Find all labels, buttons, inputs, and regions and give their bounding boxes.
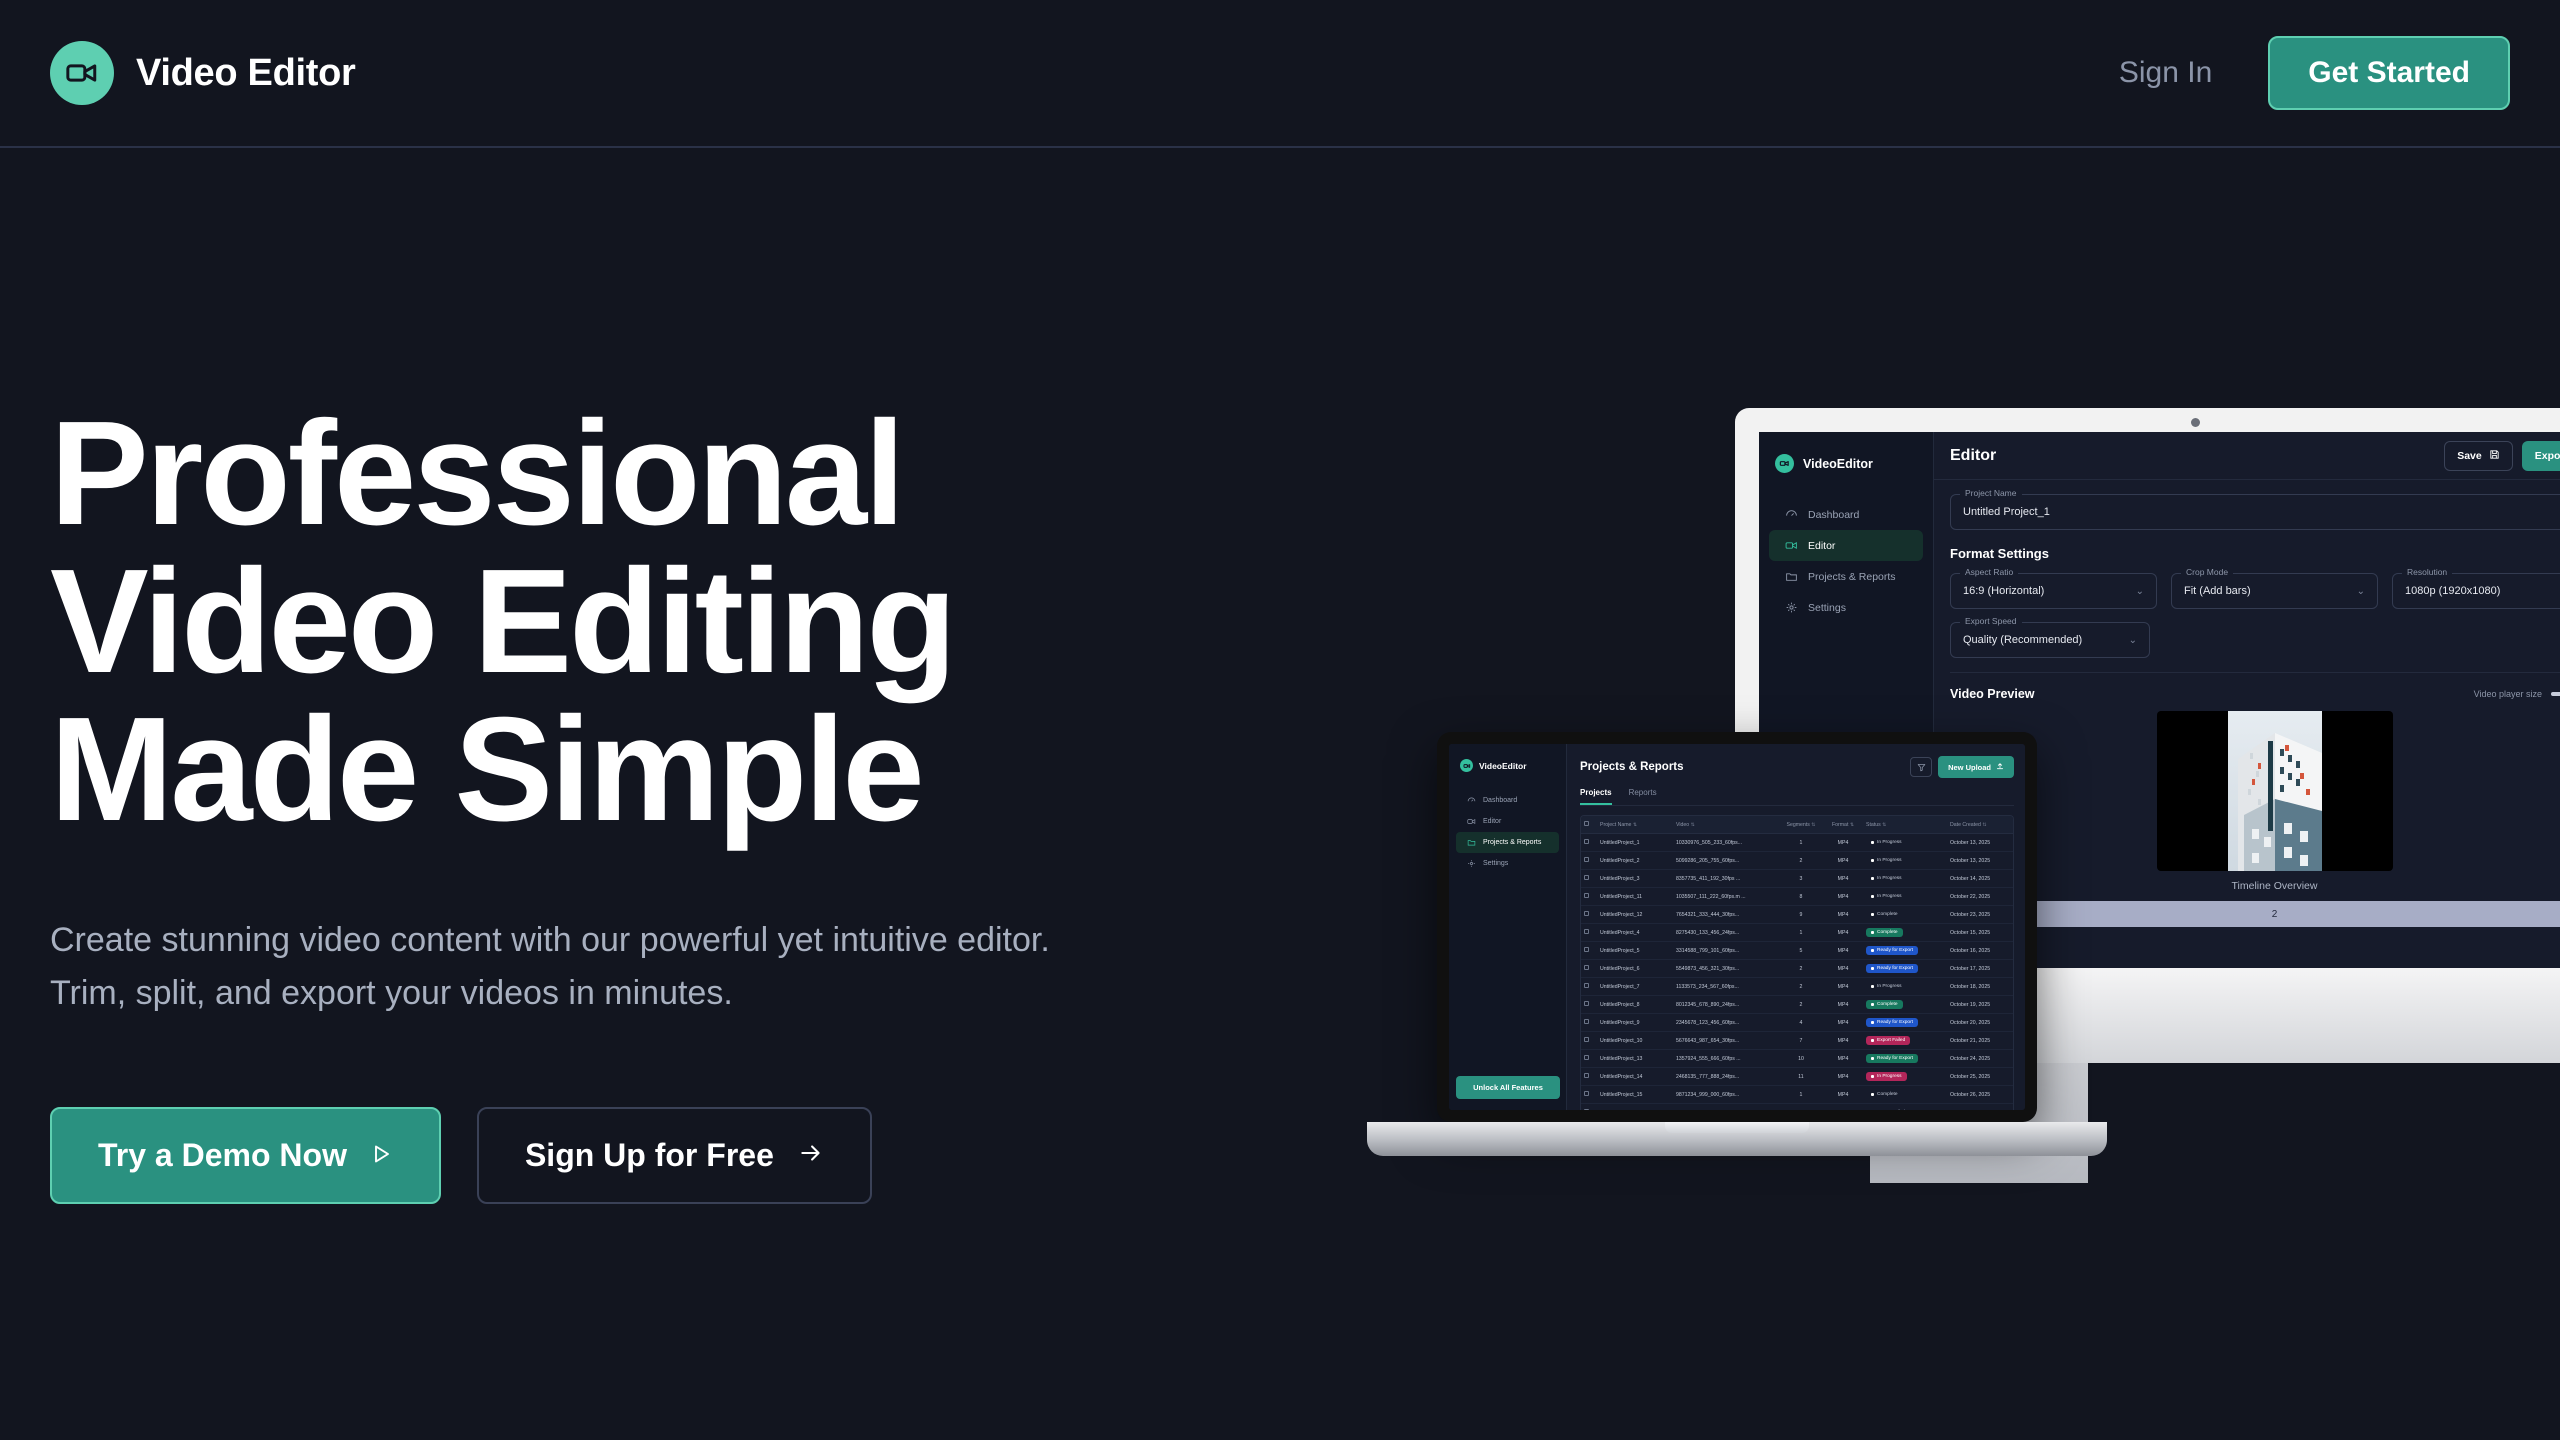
cell-video: 5099286_205_755_60fps...	[1673, 852, 1779, 870]
cell-format: MP4	[1823, 1086, 1863, 1104]
status-badge: In Progress	[1866, 1072, 1907, 1081]
sidebar-item-label: Editor	[1483, 818, 1501, 825]
hero-cta-row: Try a Demo Now Sign Up for Free	[50, 1107, 1100, 1204]
status-dot-icon	[1871, 949, 1874, 952]
status-badge: Complete	[1866, 1090, 1903, 1099]
hero-subhead: Create stunning video content with our p…	[50, 914, 1100, 1019]
sort-icon: ⇅	[1691, 822, 1695, 828]
resolution-label: Resolution	[2402, 567, 2452, 577]
status-badge: Complete	[1866, 910, 1903, 919]
row-checkbox[interactable]	[1581, 924, 1597, 942]
cell-format: MP4	[1823, 1014, 1863, 1032]
cell-status: Export Failed	[1863, 1032, 1947, 1050]
sidebar-item-label: Settings	[1808, 602, 1846, 614]
table-row[interactable]: UntitledProject_111035507_111_222_60fps.…	[1581, 888, 2014, 906]
video-preview-title: Video Preview	[1950, 687, 2035, 701]
video-preview-header: Video Preview Video player size	[1950, 687, 2560, 701]
export-speed-value: Quality (Recommended)	[1963, 634, 2082, 646]
cell-video: 2468135_777_888_24fps...	[1673, 1068, 1779, 1086]
laptop-screen: VideoEditor Dashboard Editor Projects & …	[1449, 744, 2025, 1110]
table-row[interactable]: UntitledProject_38357735_411_192_30fps .…	[1581, 870, 2014, 888]
laptop-mockup: VideoEditor Dashboard Editor Projects & …	[1437, 732, 2037, 1122]
cell-video: 3314588_799_101_60fps...	[1673, 942, 1779, 960]
gauge-icon	[1785, 508, 1798, 521]
cell-date-created: October 16, 2025	[1947, 942, 2014, 960]
cell-project-name: UntitledProject_4	[1597, 924, 1673, 942]
page-title: Professional Video Editing Made Simple	[50, 400, 1100, 844]
cell-format: MP4	[1823, 852, 1863, 870]
chevron-down-icon: ⌄	[2357, 586, 2365, 597]
player-size-label: Video player size	[2474, 689, 2542, 699]
status-dot-icon	[1871, 895, 1874, 898]
sidebar-item-settings[interactable]: Settings	[1769, 592, 1923, 623]
cell-date-created: October 19, 2025	[1947, 996, 2014, 1014]
filter-icon[interactable]	[1910, 757, 1932, 777]
checkbox-icon[interactable]	[1584, 1073, 1589, 1078]
status-dot-icon	[1871, 967, 1874, 970]
row-checkbox[interactable]	[1581, 834, 1597, 852]
cell-video: 7654321_333_444_30fps...	[1673, 906, 1779, 924]
video-camera-icon	[1785, 539, 1798, 552]
cell-project-name: UntitledProject_13	[1597, 1050, 1673, 1068]
column-segments[interactable]: Segments ⇅	[1779, 816, 1823, 834]
cell-date-created: October 15, 2025	[1947, 924, 2014, 942]
projects-sidebar-brand-label: VideoEditor	[1479, 761, 1527, 771]
folder-icon	[1785, 570, 1798, 583]
sidebar-item-label: Settings	[1483, 860, 1508, 867]
cell-segments: 1	[1779, 834, 1823, 852]
header-nav: Sign In Get Started	[2119, 36, 2510, 110]
table-row[interactable]: UntitledProject_110330976_505_233_60fps.…	[1581, 834, 2014, 852]
save-label: Save	[2457, 450, 2482, 462]
project-name-field[interactable]: Project Name Untitled Project_1	[1950, 494, 2560, 530]
gear-icon	[1467, 859, 1476, 868]
editor-sidebar-brand-label: VideoEditor	[1803, 457, 1873, 471]
table-row[interactable]: UntitledProject_161239876_123_456_30fps.…	[1581, 1104, 2014, 1111]
unlock-all-features-button[interactable]: Unlock All Features	[1456, 1076, 1560, 1099]
aspect-ratio-label: Aspect Ratio	[1960, 567, 2018, 577]
checkbox-icon[interactable]	[1584, 821, 1589, 826]
project-name-label: Project Name	[1960, 488, 2022, 498]
column-select-all[interactable]	[1581, 816, 1597, 834]
projects-table-wrap: Project Name ⇅ Video ⇅ Segments ⇅ Format…	[1580, 815, 2014, 1110]
headline-line-2: Video Editing	[50, 548, 1100, 696]
export-label: Export	[2535, 450, 2560, 462]
cell-segments: 2	[1779, 960, 1823, 978]
new-upload-label: New Upload	[1948, 763, 1991, 772]
video-camera-icon	[1460, 759, 1473, 772]
cell-date-created: October 14, 2025	[1947, 870, 2014, 888]
brand-logo-group[interactable]: Video Editor	[50, 41, 356, 105]
table-row[interactable]: UntitledProject_105676643_987_654_30fps.…	[1581, 1032, 2014, 1050]
checkbox-icon[interactable]	[1584, 929, 1589, 934]
cell-status: In Progress	[1863, 978, 1947, 996]
row-checkbox[interactable]	[1581, 906, 1597, 924]
checkbox-icon[interactable]	[1584, 875, 1589, 880]
status-dot-icon	[1871, 931, 1874, 934]
crop-mode-value: Fit (Add bars)	[2184, 585, 2251, 597]
projects-sidebar-brand: VideoEditor	[1449, 759, 1566, 772]
cell-video: 5549873_456_321_30fps...	[1673, 960, 1779, 978]
cell-project-name: UntitledProject_1	[1597, 834, 1673, 852]
table-row[interactable]: UntitledProject_48275430_133_456_24fps..…	[1581, 924, 2014, 942]
cell-status: Complete	[1863, 906, 1947, 924]
timeline-bar[interactable]: 2	[1950, 901, 2560, 927]
cell-format: MP4	[1823, 1032, 1863, 1050]
table-row[interactable]: UntitledProject_25099286_205_755_60fps..…	[1581, 852, 2014, 870]
cell-segments: 10	[1779, 1050, 1823, 1068]
cell-project-name: UntitledProject_2	[1597, 852, 1673, 870]
cell-segments: 7	[1779, 1032, 1823, 1050]
column-date-created[interactable]: Date Created ⇅	[1947, 816, 2014, 834]
headline-line-3: Made Simple	[50, 696, 1100, 844]
row-checkbox[interactable]	[1581, 1014, 1597, 1032]
cell-project-name: UntitledProject_8	[1597, 996, 1673, 1014]
cell-project-name: UntitledProject_5	[1597, 942, 1673, 960]
sort-icon: ⇅	[1811, 822, 1815, 828]
cell-video: 2345678_123_456_60fps...	[1673, 1014, 1779, 1032]
sidebar-item-label: Dashboard	[1808, 509, 1859, 521]
status-badge: Ready for Export	[1866, 1054, 1918, 1063]
chevron-down-icon: ⌄	[2136, 586, 2144, 597]
checkbox-icon[interactable]	[1584, 947, 1589, 952]
column-format[interactable]: Format ⇅	[1823, 816, 1863, 834]
sign-up-label: Sign Up for Free	[525, 1137, 774, 1174]
status-dot-icon	[1871, 1075, 1874, 1078]
row-checkbox[interactable]	[1581, 1086, 1597, 1104]
sidebar-item-editor[interactable]: Editor	[1456, 811, 1559, 832]
status-badge: In Progress	[1866, 982, 1907, 991]
status-badge: Complete	[1866, 928, 1903, 937]
sort-icon: ⇅	[1982, 822, 1986, 828]
row-checkbox[interactable]	[1581, 960, 1597, 978]
sort-icon: ⇅	[1633, 822, 1637, 828]
column-status[interactable]: Status ⇅	[1863, 816, 1947, 834]
sort-icon: ⇅	[1882, 822, 1886, 828]
editor-page-title: Editor	[1950, 447, 1996, 465]
cell-format: MP4	[1823, 1104, 1863, 1111]
export-speed-select[interactable]: Export Speed Quality (Recommended) ⌄	[1950, 622, 2150, 658]
format-field-row-2: Export Speed Quality (Recommended) ⌄	[1950, 622, 2560, 658]
cell-date-created: October 20, 2025	[1947, 1014, 2014, 1032]
status-badge: In Progress	[1866, 838, 1907, 847]
cell-format: MP4	[1823, 870, 1863, 888]
projects-page-title: Projects & Reports	[1580, 761, 1684, 773]
cell-segments: 9	[1779, 906, 1823, 924]
projects-sidebar: VideoEditor Dashboard Editor Projects & …	[1449, 744, 1567, 1110]
cell-segments: 11	[1779, 1068, 1823, 1086]
cell-project-name: UntitledProject_6	[1597, 960, 1673, 978]
status-badge: Ready for Export	[1866, 964, 1918, 973]
cell-segments: 3	[1779, 870, 1823, 888]
status-dot-icon	[1871, 913, 1874, 916]
checkbox-icon[interactable]	[1584, 1019, 1589, 1024]
cell-status: In Progress	[1863, 888, 1947, 906]
editor-sidebar-brand: VideoEditor	[1759, 454, 1933, 473]
cell-status: Ready for Export	[1863, 1014, 1947, 1032]
folder-icon	[1467, 838, 1476, 847]
sidebar-item-dashboard[interactable]: Dashboard	[1456, 790, 1559, 811]
row-checkbox[interactable]	[1581, 1104, 1597, 1111]
cell-status: Ready for Export	[1863, 960, 1947, 978]
hero-section: Professional Video Editing Made Simple C…	[50, 400, 1100, 1204]
checkbox-icon[interactable]	[1584, 839, 1589, 844]
cell-date-created: October 23, 2025	[1947, 906, 2014, 924]
sidebar-item-settings[interactable]: Settings	[1456, 853, 1559, 874]
aspect-ratio-select[interactable]: Aspect Ratio 16:9 (Horizontal) ⌄	[1950, 573, 2157, 609]
projects-header-actions: New Upload	[1910, 756, 2014, 778]
status-badge: Complete	[1866, 1000, 1903, 1009]
table-row[interactable]: UntitledProject_127654321_333_444_30fps.…	[1581, 906, 2014, 924]
cell-project-name: UntitledProject_10	[1597, 1032, 1673, 1050]
tab-reports[interactable]: Reports	[1629, 788, 1657, 805]
cell-video: 1239876_123_456_30fps...	[1673, 1104, 1779, 1111]
new-upload-button[interactable]: New Upload	[1938, 756, 2014, 778]
status-badge: Export Failed	[1866, 1036, 1910, 1045]
cell-project-name: UntitledProject_3	[1597, 870, 1673, 888]
projects-main: Projects & Reports New Upload Projects R…	[1567, 744, 2025, 1110]
cell-status: Complete	[1863, 1086, 1947, 1104]
sort-icon: ⇅	[1850, 822, 1854, 828]
cell-segments: 5	[1779, 942, 1823, 960]
headline-line-1: Professional	[50, 400, 1100, 548]
status-badge: Ready for Export	[1866, 1018, 1918, 1027]
player-size-control[interactable]: Video player size	[2474, 689, 2560, 699]
cell-status: In Progress	[1863, 834, 1947, 852]
column-project-name[interactable]: Project Name ⇅	[1597, 816, 1673, 834]
format-field-row-1: Aspect Ratio 16:9 (Horizontal) ⌄ Crop Mo…	[1950, 573, 2560, 609]
project-name-value: Untitled Project_1	[1963, 506, 2050, 518]
sidebar-item-label: Editor	[1808, 540, 1835, 552]
cell-segments: 2	[1779, 978, 1823, 996]
checkbox-icon[interactable]	[1584, 1055, 1589, 1060]
checkbox-icon[interactable]	[1584, 1001, 1589, 1006]
checkbox-icon[interactable]	[1584, 983, 1589, 988]
cell-video: 5676643_987_654_30fps...	[1673, 1032, 1779, 1050]
cell-date-created: October 13, 2025	[1947, 852, 2014, 870]
cell-status: Ready for Export	[1863, 1050, 1947, 1068]
play-triangle-icon	[369, 1137, 393, 1174]
cell-project-name: UntitledProject_15	[1597, 1086, 1673, 1104]
cell-status: In Progress	[1863, 852, 1947, 870]
row-checkbox[interactable]	[1581, 1032, 1597, 1050]
laptop-notch	[1665, 1122, 1809, 1133]
try-demo-label: Try a Demo Now	[98, 1137, 347, 1174]
cell-segments: 8	[1779, 888, 1823, 906]
floppy-disk-icon	[2489, 449, 2500, 463]
cell-date-created: October 17, 2025	[1947, 960, 2014, 978]
cell-segments: 2	[1779, 852, 1823, 870]
table-row[interactable]: UntitledProject_159871234_999_000_60fps.…	[1581, 1086, 2014, 1104]
cell-status: In Progress	[1863, 870, 1947, 888]
export-button[interactable]: Export	[2522, 441, 2560, 471]
resolution-value: 1080p (1920x1080)	[2405, 585, 2500, 597]
status-dot-icon	[1871, 985, 1874, 988]
cell-date-created: October 13, 2025	[1947, 834, 2014, 852]
cell-video: 9871234_999_000_60fps...	[1673, 1086, 1779, 1104]
gauge-icon	[1467, 796, 1476, 805]
projects-tabs: Projects Reports	[1580, 788, 2014, 806]
cell-format: MP4	[1823, 942, 1863, 960]
cell-format: MP4	[1823, 996, 1863, 1014]
cell-format: MP4	[1823, 978, 1863, 996]
cell-segments: 1	[1779, 924, 1823, 942]
tab-projects[interactable]: Projects	[1580, 788, 1612, 805]
save-button[interactable]: Save	[2444, 441, 2513, 471]
upload-icon	[1996, 762, 2004, 772]
chevron-down-icon: ⌄	[2129, 635, 2137, 646]
sign-up-button[interactable]: Sign Up for Free	[477, 1107, 872, 1204]
cell-video: 8012345_678_890_24fps...	[1673, 996, 1779, 1014]
sidebar-item-projects-reports[interactable]: Projects & Reports	[1769, 561, 1923, 592]
status-badge: In Progress	[1866, 892, 1907, 901]
cell-video: 8357735_411_192_30fps ...	[1673, 870, 1779, 888]
resolution-select[interactable]: Resolution 1080p (1920x1080) ⌄	[2392, 573, 2560, 609]
sign-in-link[interactable]: Sign In	[2119, 56, 2212, 90]
cell-segments: 2	[1779, 996, 1823, 1014]
cell-format: MP4	[1823, 1050, 1863, 1068]
cell-format: MP4	[1823, 888, 1863, 906]
get-started-button[interactable]: Get Started	[2268, 36, 2510, 110]
row-checkbox[interactable]	[1581, 978, 1597, 996]
crop-mode-label: Crop Mode	[2181, 567, 2233, 577]
column-video[interactable]: Video ⇅	[1673, 816, 1779, 834]
arrow-right-icon	[798, 1137, 824, 1174]
cell-project-name: UntitledProject_12	[1597, 906, 1673, 924]
checkbox-icon[interactable]	[1584, 1037, 1589, 1042]
checkbox-icon[interactable]	[1584, 1109, 1589, 1110]
checkbox-icon[interactable]	[1584, 911, 1589, 916]
video-camera-icon	[1467, 817, 1476, 826]
cell-date-created: October 27, 2025	[1947, 1104, 2014, 1111]
player-size-slider[interactable]	[2551, 692, 2560, 696]
status-dot-icon	[1871, 1057, 1874, 1060]
cell-date-created: October 21, 2025	[1947, 1032, 2014, 1050]
cell-format: MP4	[1823, 960, 1863, 978]
table-header-row: Project Name ⇅ Video ⇅ Segments ⇅ Format…	[1581, 816, 2014, 834]
cell-project-name: UntitledProject_11	[1597, 888, 1673, 906]
cell-project-name: UntitledProject_14	[1597, 1068, 1673, 1086]
cell-status: Complete	[1863, 924, 1947, 942]
cell-format: MP4	[1823, 906, 1863, 924]
cell-segments: 13	[1779, 1104, 1823, 1111]
cell-date-created: October 26, 2025	[1947, 1086, 2014, 1104]
status-dot-icon	[1871, 1093, 1874, 1096]
row-checkbox[interactable]	[1581, 1050, 1597, 1068]
video-player[interactable]	[2157, 711, 2393, 871]
table-row[interactable]: UntitledProject_142468135_777_888_24fps.…	[1581, 1068, 2014, 1086]
editor-topbar: Editor Save Export	[1934, 432, 2560, 480]
format-settings-heading: Format Settings	[1950, 546, 2560, 561]
row-checkbox[interactable]	[1581, 996, 1597, 1014]
cell-segments: 1	[1779, 1086, 1823, 1104]
cell-format: MP4	[1823, 834, 1863, 852]
checkbox-icon[interactable]	[1584, 965, 1589, 970]
cell-format: MP4	[1823, 1068, 1863, 1086]
sidebar-item-editor[interactable]: Editor	[1769, 530, 1923, 561]
table-row[interactable]: UntitledProject_71133573_234_567_60fps..…	[1581, 978, 2014, 996]
crop-mode-select[interactable]: Crop Mode Fit (Add bars) ⌄	[2171, 573, 2378, 609]
checkbox-icon[interactable]	[1584, 1091, 1589, 1096]
cell-video: 1035507_111_222_60fps.m ...	[1673, 888, 1779, 906]
webcam-dot-icon	[2191, 418, 2200, 427]
row-checkbox[interactable]	[1581, 888, 1597, 906]
cell-status: Complete	[1863, 996, 1947, 1014]
cell-segments: 4	[1779, 1014, 1823, 1032]
table-row[interactable]: UntitledProject_65549873_456_321_30fps..…	[1581, 960, 2014, 978]
status-badge: In Progress	[1866, 874, 1907, 883]
sidebar-item-dashboard[interactable]: Dashboard	[1769, 499, 1923, 530]
cell-format: MP4	[1823, 924, 1863, 942]
row-checkbox[interactable]	[1581, 942, 1597, 960]
status-badge: In Progress	[1866, 856, 1907, 865]
cell-project-name: UntitledProject_9	[1597, 1014, 1673, 1032]
cell-video: 1133573_234_567_60fps...	[1673, 978, 1779, 996]
cell-date-created: October 18, 2025	[1947, 978, 2014, 996]
status-dot-icon	[1871, 859, 1874, 862]
cell-status: Ready for Export	[1863, 942, 1947, 960]
cell-project-name: UntitledProject_16	[1597, 1104, 1673, 1111]
video-frame-building-photo	[2228, 711, 2322, 871]
status-badge: Ready for Export	[1866, 946, 1918, 955]
projects-header: Projects & Reports New Upload	[1580, 756, 2014, 778]
cell-video: 10330976_505_233_60fps...	[1673, 834, 1779, 852]
row-checkbox[interactable]	[1581, 870, 1597, 888]
row-checkbox[interactable]	[1581, 1068, 1597, 1086]
checkbox-icon[interactable]	[1584, 893, 1589, 898]
checkbox-icon[interactable]	[1584, 857, 1589, 862]
sidebar-item-label: Dashboard	[1483, 797, 1517, 804]
sidebar-item-label: Projects & Reports	[1483, 839, 1541, 846]
table-row[interactable]: UntitledProject_88012345_678_890_24fps..…	[1581, 996, 2014, 1014]
status-dot-icon	[1871, 877, 1874, 880]
cell-status: In Progress	[1863, 1068, 1947, 1086]
cell-status: Export Failed	[1863, 1104, 1947, 1111]
site-header: Video Editor Sign In Get Started	[0, 0, 2560, 148]
video-camera-icon	[1775, 454, 1794, 473]
projects-table-body: UntitledProject_110330976_505_233_60fps.…	[1581, 834, 2014, 1111]
projects-table: Project Name ⇅ Video ⇅ Segments ⇅ Format…	[1581, 816, 2014, 1110]
sidebar-item-label: Projects & Reports	[1808, 571, 1896, 583]
cell-project-name: UntitledProject_7	[1597, 978, 1673, 996]
status-dot-icon	[1871, 1003, 1874, 1006]
timeline-overview-label: Timeline Overview	[1950, 880, 2560, 892]
sidebar-item-projects-reports[interactable]: Projects & Reports	[1456, 832, 1559, 853]
cell-video: 8275430_133_456_24fps...	[1673, 924, 1779, 942]
status-badge: Export Failed	[1866, 1108, 1910, 1110]
video-camera-icon	[50, 41, 114, 105]
table-row[interactable]: UntitledProject_131357924_555_666_60fps …	[1581, 1050, 2014, 1068]
section-divider	[1950, 672, 2560, 673]
status-dot-icon	[1871, 841, 1874, 844]
table-row[interactable]: UntitledProject_92345678_123_456_60fps..…	[1581, 1014, 2014, 1032]
cell-date-created: October 22, 2025	[1947, 888, 2014, 906]
row-checkbox[interactable]	[1581, 852, 1597, 870]
table-row[interactable]: UntitledProject_53314588_799_101_60fps..…	[1581, 942, 2014, 960]
status-dot-icon	[1871, 1021, 1874, 1024]
try-demo-button[interactable]: Try a Demo Now	[50, 1107, 441, 1204]
aspect-ratio-value: 16:9 (Horizontal)	[1963, 585, 2044, 597]
status-dot-icon	[1871, 1039, 1874, 1042]
gear-icon	[1785, 601, 1798, 614]
brand-name: Video Editor	[136, 52, 356, 95]
cell-video: 1357924_555_666_60fps ...	[1673, 1050, 1779, 1068]
cell-date-created: October 24, 2025	[1947, 1050, 2014, 1068]
editor-topbar-actions: Save Export	[2444, 441, 2560, 471]
export-speed-label: Export Speed	[1960, 616, 2022, 626]
cell-date-created: October 25, 2025	[1947, 1068, 2014, 1086]
